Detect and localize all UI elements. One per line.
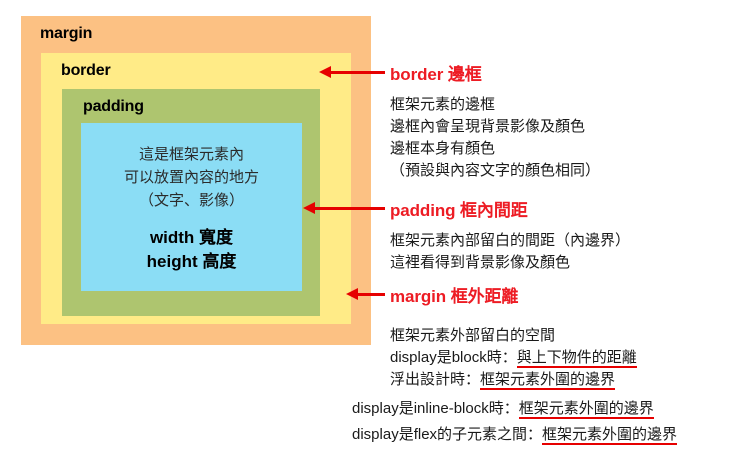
width-label: width 寬度 xyxy=(81,226,302,250)
annotation-border-line-4: （預設與內容文字的顏色相同） xyxy=(390,160,600,182)
content-dimensions: width 寬度 height 高度 xyxy=(81,226,302,274)
annotation-margin-title: margin 框外距離 xyxy=(390,282,637,307)
annotation-border-line-3: 邊框本身有顏色 xyxy=(390,138,600,160)
margin-arrow-icon xyxy=(357,293,385,296)
annotation-margin-body: 框架元素外部留白的空間 display是block時：與上下物件的距離 浮出設計… xyxy=(390,325,637,391)
extra-note-1: display是inline-block時：框架元素外圍的邊界 xyxy=(352,396,677,422)
annotation-padding-line-1: 框架元素內部留白的間距（內邊界） xyxy=(390,230,630,252)
padding-arrow-icon xyxy=(314,207,385,210)
content-line-3: （文字、影像） xyxy=(81,189,302,212)
padding-box-label: padding xyxy=(83,98,144,116)
border-box-label: border xyxy=(61,62,110,80)
annotation-margin-line-2-prefix: display是block時： xyxy=(390,349,517,366)
extra-notes: display是inline-block時：框架元素外圍的邊界 display是… xyxy=(352,396,677,448)
annotation-margin-line-3: 浮出設計時：框架元素外圍的邊界 xyxy=(390,369,637,391)
extra-note-2: display是flex的子元素之間：框架元素外圍的邊界 xyxy=(352,422,677,448)
margin-box-label: margin xyxy=(40,25,92,43)
extra-note-1-underline: 框架元素外圍的邊界 xyxy=(519,400,654,419)
extra-note-1-prefix: display是inline-block時： xyxy=(352,400,519,417)
content-box-text: 這是框架元素內 可以放置內容的地方 （文字、影像） width 寬度 heigh… xyxy=(81,143,302,274)
annotation-margin: margin 框外距離 框架元素外部留白的空間 display是block時：與… xyxy=(390,282,637,391)
annotation-padding: padding 框內間距 框架元素內部留白的間距（內邊界） 這裡看得到背景影像及… xyxy=(390,196,630,274)
annotation-padding-body: 框架元素內部留白的間距（內邊界） 這裡看得到背景影像及顏色 xyxy=(390,230,630,274)
annotation-margin-line-2: display是block時：與上下物件的距離 xyxy=(390,347,637,369)
annotation-padding-line-2: 這裡看得到背景影像及顏色 xyxy=(390,252,630,274)
annotation-margin-line-1: 框架元素外部留白的空間 xyxy=(390,325,637,347)
content-box: 這是框架元素內 可以放置內容的地方 （文字、影像） width 寬度 heigh… xyxy=(81,123,302,291)
border-arrow-icon xyxy=(330,71,385,74)
content-line-1: 這是框架元素內 xyxy=(81,143,302,166)
annotation-margin-line-3-underline: 框架元素外圍的邊界 xyxy=(480,371,615,390)
content-line-2: 可以放置內容的地方 xyxy=(81,166,302,189)
extra-note-2-underline: 框架元素外圍的邊界 xyxy=(542,426,677,445)
padding-box: padding 這是框架元素內 可以放置內容的地方 （文字、影像） width … xyxy=(62,89,320,316)
border-box: border padding 這是框架元素內 可以放置內容的地方 （文字、影像）… xyxy=(41,53,351,324)
annotation-border-line-1: 框架元素的邊框 xyxy=(390,94,600,116)
height-label: height 高度 xyxy=(81,250,302,274)
annotation-border: border 邊框 框架元素的邊框 邊框內會呈現背景影像及顏色 邊框本身有顏色 … xyxy=(390,60,600,182)
annotation-border-line-2: 邊框內會呈現背景影像及顏色 xyxy=(390,116,600,138)
annotation-border-body: 框架元素的邊框 邊框內會呈現背景影像及顏色 邊框本身有顏色 （預設與內容文字的顏… xyxy=(390,94,600,182)
annotation-padding-title: padding 框內間距 xyxy=(390,196,630,221)
extra-note-2-prefix: display是flex的子元素之間： xyxy=(352,426,542,443)
annotation-border-title: border 邊框 xyxy=(390,60,600,85)
annotation-margin-line-2-underline: 與上下物件的距離 xyxy=(517,349,637,368)
annotation-margin-line-3-prefix: 浮出設計時： xyxy=(390,371,480,388)
